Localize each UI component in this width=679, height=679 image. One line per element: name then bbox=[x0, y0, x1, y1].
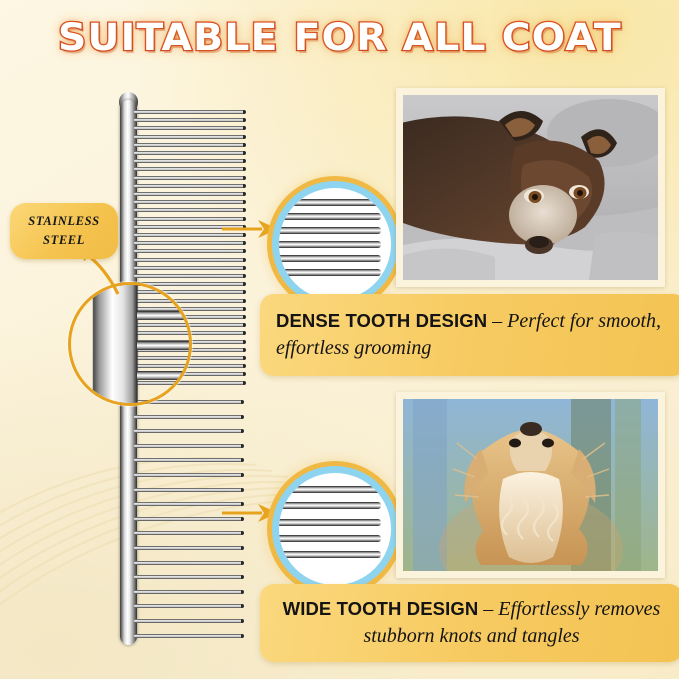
magnified-tooth bbox=[277, 241, 381, 248]
caption-dense-head: DENSE TOOTH DESIGN bbox=[276, 310, 487, 331]
dog-looking-up-illustration bbox=[403, 399, 658, 571]
spine-detail-tooth bbox=[137, 371, 192, 380]
comb-tooth bbox=[134, 604, 242, 608]
magnified-tooth bbox=[277, 269, 381, 276]
magnified-tooth bbox=[277, 502, 381, 509]
comb-tooth bbox=[134, 184, 244, 188]
comb-tooth bbox=[134, 151, 244, 155]
comb-tooth bbox=[134, 176, 244, 180]
photo-dog-resting bbox=[396, 88, 665, 287]
badge-line-2: STEEL bbox=[43, 231, 85, 250]
comb-tooth bbox=[134, 488, 242, 492]
magnified-tooth bbox=[277, 255, 381, 262]
comb-tooth bbox=[134, 634, 242, 638]
comb-tooth bbox=[134, 110, 244, 114]
comb-tooth bbox=[134, 561, 242, 565]
comb-tooth bbox=[134, 208, 244, 212]
comb-tooth bbox=[134, 159, 244, 163]
dog-resting-illustration bbox=[403, 95, 658, 280]
comb-tooth bbox=[134, 266, 244, 270]
caption-wide-tooth: WIDE TOOTH DESIGN – Effortlessly removes… bbox=[260, 584, 679, 662]
comb-tooth bbox=[134, 531, 242, 535]
caption-wide-text: WIDE TOOTH DESIGN – Effortlessly removes… bbox=[274, 596, 669, 650]
comb-tooth bbox=[134, 473, 242, 477]
comb-tooth bbox=[134, 590, 242, 594]
wide-tooth-magnifier bbox=[272, 466, 398, 592]
magnified-tooth bbox=[277, 486, 381, 493]
spine-detail-lens bbox=[68, 282, 192, 406]
badge-line-1: STAINLESS bbox=[28, 212, 99, 231]
comb-tooth bbox=[134, 135, 244, 139]
spine-detail-tooth bbox=[137, 341, 192, 350]
comb-tooth bbox=[134, 143, 244, 147]
comb-tooth bbox=[134, 200, 244, 204]
caption-wide-head: WIDE TOOTH DESIGN bbox=[283, 598, 479, 619]
magnified-tooth bbox=[277, 213, 381, 220]
magnified-tooth bbox=[277, 199, 381, 206]
comb-tooth bbox=[134, 444, 242, 448]
comb-tooth bbox=[134, 249, 244, 253]
dense-tooth-magnifier bbox=[272, 181, 398, 307]
caption-wide-dash: – bbox=[478, 598, 498, 620]
spine-detail-tooth bbox=[137, 311, 192, 320]
comb-tooth bbox=[134, 546, 242, 550]
caption-dense-tooth: DENSE TOOTH DESIGN – Perfect for smooth,… bbox=[260, 294, 679, 376]
comb-tooth bbox=[134, 126, 244, 130]
comb-tooth bbox=[134, 274, 244, 278]
comb-tooth bbox=[134, 415, 242, 419]
comb-tooth bbox=[134, 258, 244, 262]
comb-tooth bbox=[134, 118, 244, 122]
comb-tooth bbox=[134, 619, 242, 623]
stainless-steel-badge: STAINLESS STEEL bbox=[10, 203, 118, 259]
page-title: SUITABLE FOR ALL COAT bbox=[58, 16, 622, 59]
comb-tooth bbox=[134, 192, 244, 196]
magnified-tooth bbox=[277, 227, 381, 234]
comb-tooth bbox=[134, 167, 244, 171]
comb-tooth bbox=[134, 458, 242, 462]
comb-tooth bbox=[134, 575, 242, 579]
magnified-tooth bbox=[277, 535, 381, 542]
magnified-tooth bbox=[277, 551, 381, 558]
caption-dense-text: DENSE TOOTH DESIGN – Perfect for smooth,… bbox=[276, 308, 671, 362]
headline-container: SUITABLE FOR ALL COAT bbox=[0, 16, 679, 59]
infographic-canvas: SUITABLE FOR ALL COAT STAINLESS STEEL bbox=[0, 0, 679, 679]
caption-dense-dash: – bbox=[487, 310, 507, 332]
photo-dog-looking-up bbox=[396, 392, 665, 578]
magnified-tooth bbox=[277, 519, 381, 526]
comb-tooth bbox=[134, 429, 242, 433]
